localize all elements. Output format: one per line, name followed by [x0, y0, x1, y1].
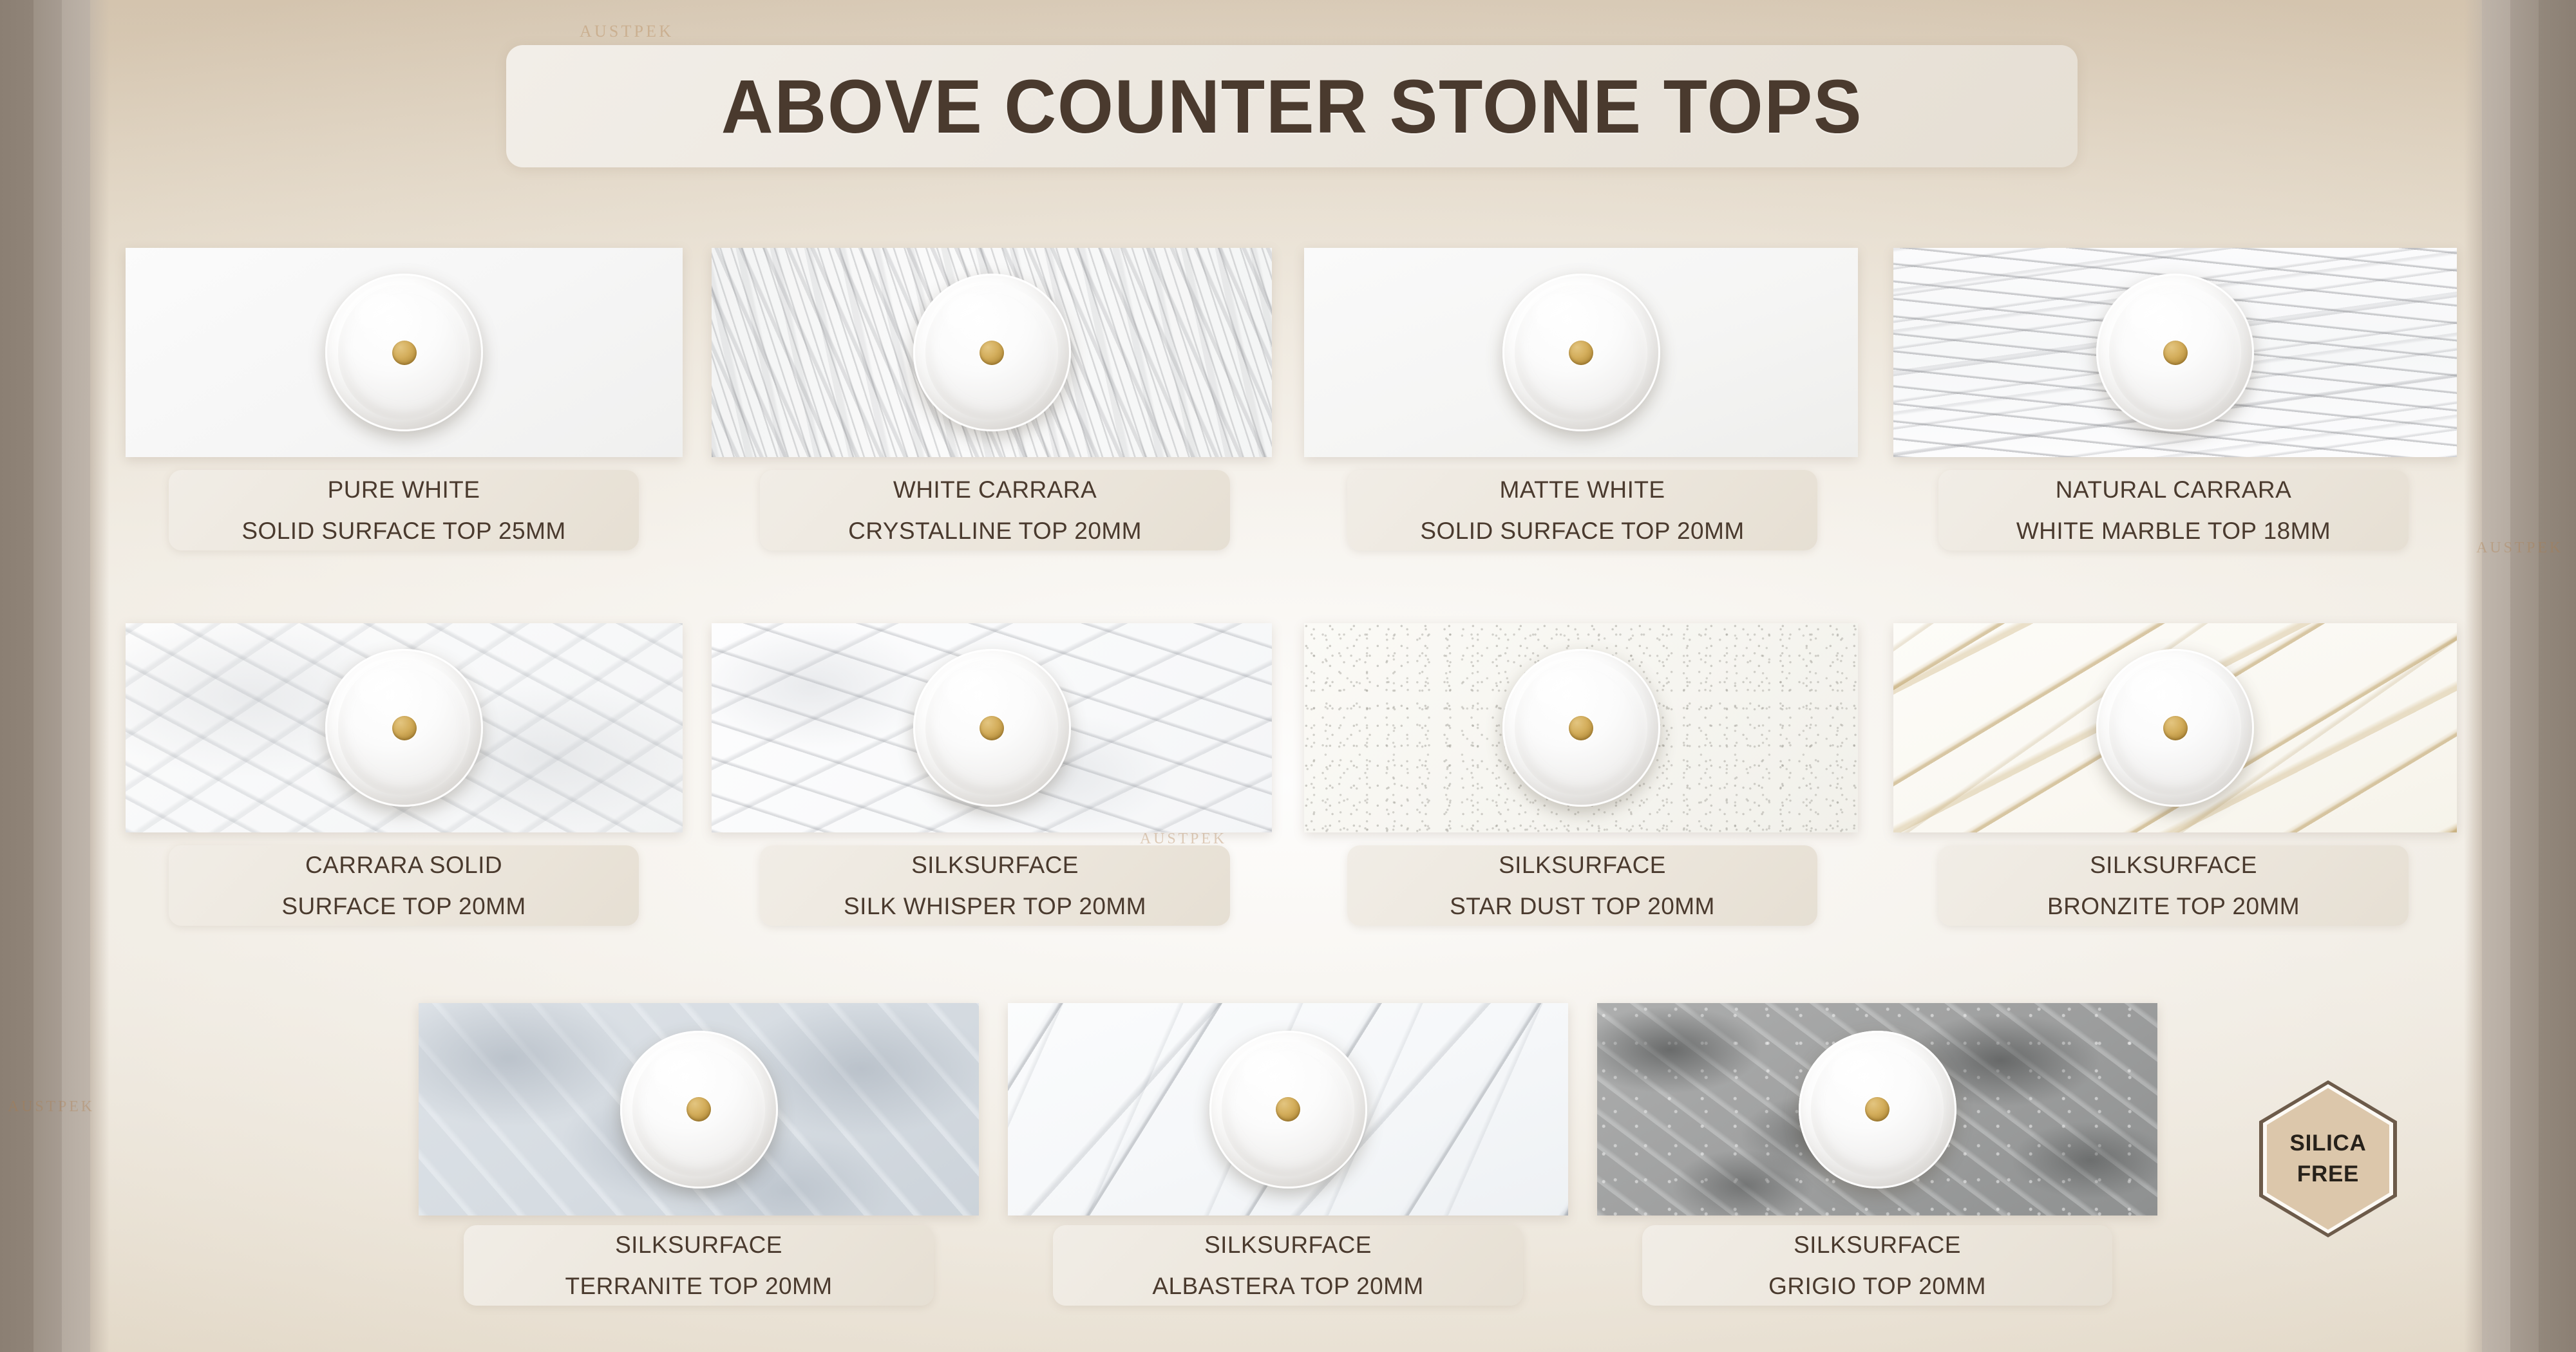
basin	[1502, 649, 1660, 807]
product-spec: SURFACE TOP 20MM	[281, 893, 526, 920]
stone-swatch[interactable]	[1893, 623, 2457, 832]
basin	[1799, 1031, 1956, 1188]
product-name: SILKSURFACE	[911, 852, 1079, 879]
stone-swatch[interactable]	[1597, 1003, 2157, 1216]
drain-icon	[687, 1097, 711, 1122]
stone-swatch[interactable]	[419, 1003, 979, 1216]
product-label: PURE WHITESOLID SURFACE TOP 25MM	[169, 470, 639, 550]
product-label: SILKSURFACEGRIGIO TOP 20MM	[1642, 1225, 2112, 1306]
watermark-top: AUSTPEK	[580, 22, 674, 41]
product-label: SILKSURFACESTAR DUST TOP 20MM	[1347, 845, 1817, 926]
left-edge-band-1	[0, 0, 33, 1352]
basin	[1502, 274, 1660, 431]
drain-icon	[1865, 1097, 1889, 1122]
product-name: SILKSURFACE	[2090, 852, 2257, 879]
right-edge-band-3	[2482, 0, 2510, 1352]
basin	[325, 274, 483, 431]
title-banner: ABOVE COUNTER STONE TOPS	[506, 45, 2078, 167]
stone-swatch[interactable]	[126, 623, 683, 832]
drain-icon	[392, 341, 417, 365]
right-edge-band-1	[2539, 0, 2576, 1352]
drain-icon	[392, 716, 417, 740]
stone-swatch[interactable]	[712, 248, 1272, 457]
left-edge-band-3	[62, 0, 90, 1352]
basin	[620, 1031, 778, 1188]
right-edge-band-2	[2510, 0, 2539, 1352]
product-label: WHITE CARRARACRYSTALLINE TOP 20MM	[760, 470, 1230, 550]
product-name: CARRARA SOLID	[305, 852, 502, 879]
left-edge-band-2	[33, 0, 62, 1352]
product-label: MATTE WHITESOLID SURFACE TOP 20MM	[1347, 470, 1817, 550]
stone-swatch[interactable]	[1008, 1003, 1568, 1216]
product-label: SILKSURFACESILK WHISPER TOP 20MM	[760, 845, 1230, 926]
stone-swatch[interactable]	[1304, 623, 1858, 832]
product-spec: WHITE MARBLE TOP 18MM	[2016, 518, 2331, 545]
drain-icon	[2163, 341, 2188, 365]
product-name: SILKSURFACE	[1204, 1232, 1372, 1259]
silica-free-line-1: SILICA	[2290, 1131, 2367, 1156]
drain-icon	[1569, 716, 1593, 740]
drain-icon	[1569, 341, 1593, 365]
basin	[1209, 1031, 1367, 1188]
product-label: CARRARA SOLIDSURFACE TOP 20MM	[169, 845, 639, 926]
product-spec: SOLID SURFACE TOP 20MM	[1420, 518, 1744, 545]
product-label: SILKSURFACEALBASTERA TOP 20MM	[1053, 1225, 1523, 1306]
drain-icon	[980, 716, 1004, 740]
product-name: SILKSURFACE	[1794, 1232, 1961, 1259]
basin	[2096, 274, 2254, 431]
product-spec: CRYSTALLINE TOP 20MM	[848, 518, 1142, 545]
product-spec: STAR DUST TOP 20MM	[1450, 893, 1715, 920]
stone-swatch[interactable]	[126, 248, 683, 457]
left-edge-band-4	[90, 0, 109, 1352]
product-name: SILKSURFACE	[615, 1232, 782, 1259]
product-spec: TERRANITE TOP 20MM	[565, 1273, 832, 1300]
product-spec: GRIGIO TOP 20MM	[1768, 1273, 1986, 1300]
product-name: MATTE WHITE	[1499, 476, 1665, 503]
drain-icon	[1276, 1097, 1300, 1122]
product-label: SILKSURFACETERRANITE TOP 20MM	[464, 1225, 934, 1306]
basin	[913, 274, 1071, 431]
basin	[913, 649, 1071, 807]
stone-swatch[interactable]	[1304, 248, 1858, 457]
product-name: PURE WHITE	[328, 476, 480, 503]
stone-swatch[interactable]	[712, 623, 1272, 832]
poster-background: AUSTPEK AUSTPEK AUSTPEK AUSTPEK ABOVE CO…	[0, 0, 2576, 1352]
product-spec: SOLID SURFACE TOP 25MM	[241, 518, 565, 545]
drain-icon	[2163, 716, 2188, 740]
right-edge-band-4	[2464, 0, 2482, 1352]
product-name: SILKSURFACE	[1499, 852, 1666, 879]
product-label: NATURAL CARRARAWHITE MARBLE TOP 18MM	[1938, 470, 2409, 550]
basin	[325, 649, 483, 807]
drain-icon	[980, 341, 1004, 365]
stone-swatch[interactable]	[1893, 248, 2457, 457]
silica-free-line-2: FREE	[2297, 1161, 2359, 1187]
basin	[2096, 649, 2254, 807]
product-name: WHITE CARRARA	[893, 476, 1097, 503]
product-spec: ALBASTERA TOP 20MM	[1152, 1273, 1423, 1300]
product-spec: SILK WHISPER TOP 20MM	[844, 893, 1146, 920]
product-name: NATURAL CARRARA	[2056, 476, 2291, 503]
page-title: ABOVE COUNTER STONE TOPS	[721, 62, 1862, 149]
product-spec: BRONZITE TOP 20MM	[2047, 893, 2300, 920]
product-label: SILKSURFACEBRONZITE TOP 20MM	[1938, 845, 2409, 926]
